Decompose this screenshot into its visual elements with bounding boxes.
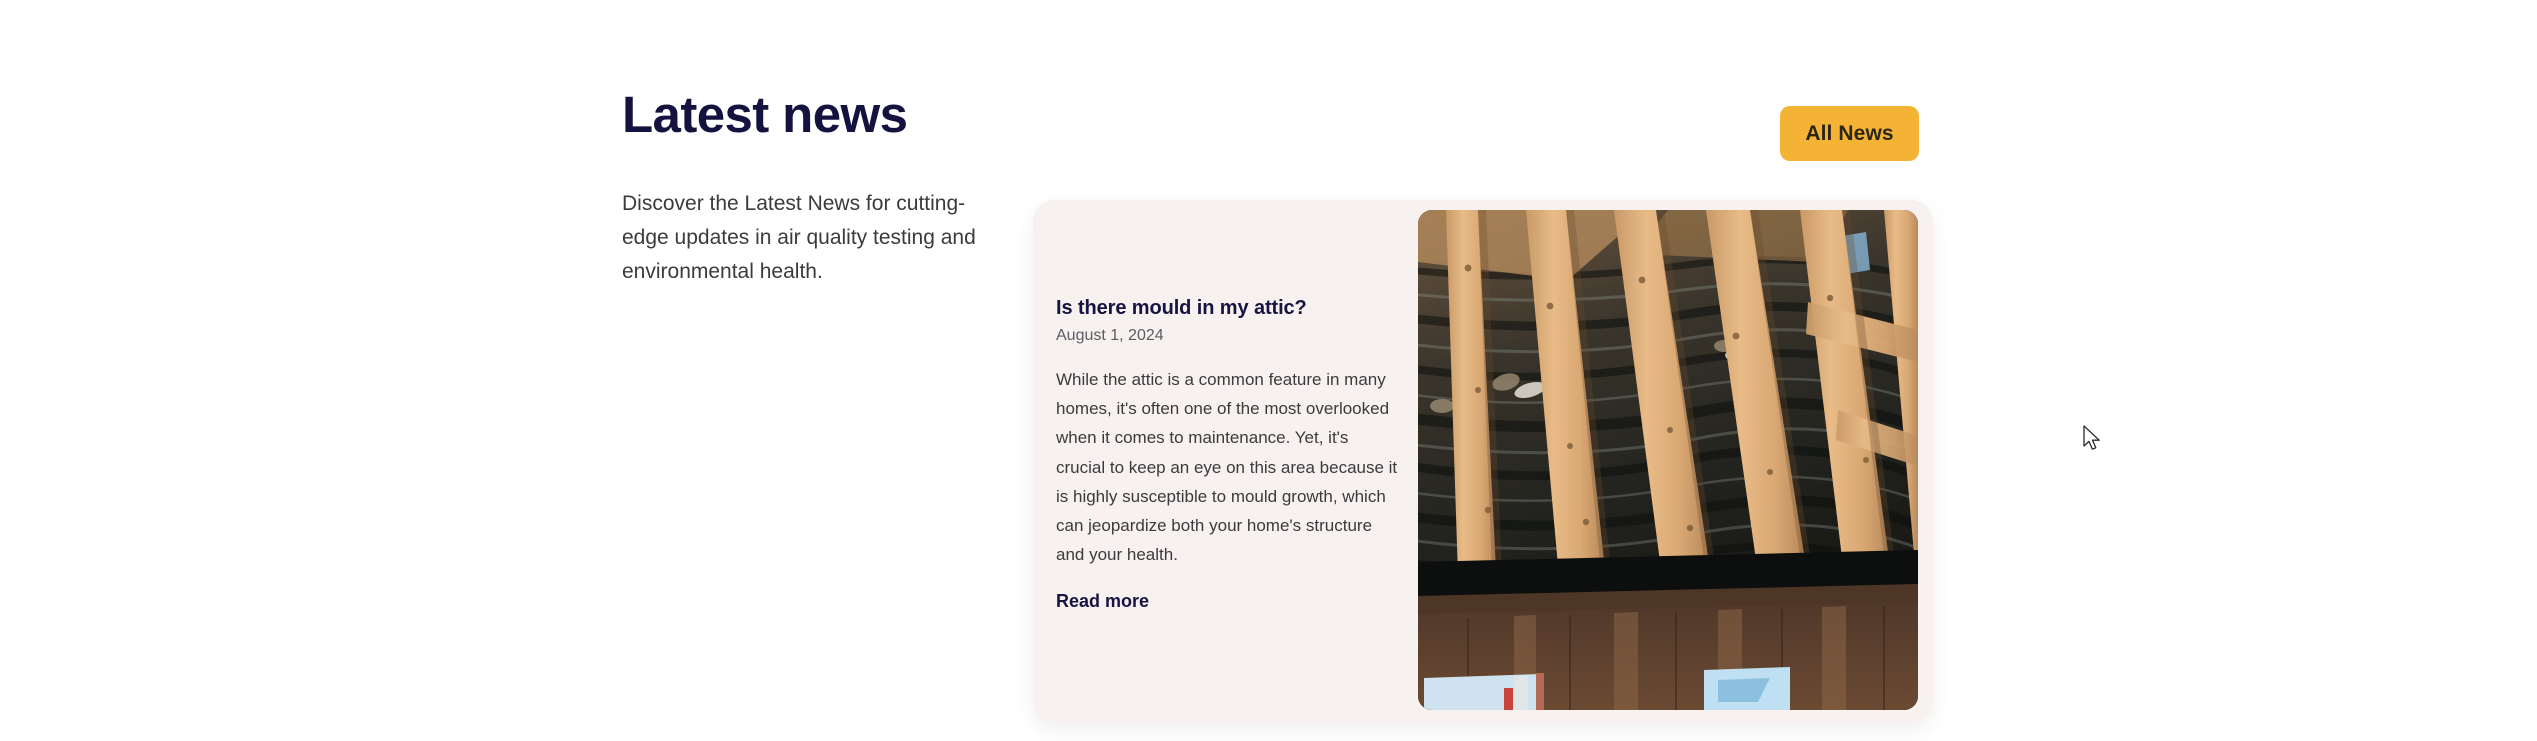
news-card-text: Is there mould in my attic? August 1, 20… <box>1056 296 1406 612</box>
news-card[interactable]: Is there mould in my attic? August 1, 20… <box>1033 200 1933 723</box>
page-title: Latest news <box>622 86 1012 143</box>
news-card-date: August 1, 2024 <box>1056 321 1406 347</box>
latest-news-intro: Latest news Discover the Latest News for… <box>622 86 1012 289</box>
mouse-cursor <box>2083 425 2105 453</box>
news-card-title: Is there mould in my attic? <box>1056 296 1406 321</box>
read-more-link[interactable]: Read more <box>1056 591 1149 612</box>
news-card-excerpt: While the attic is a common feature in m… <box>1056 347 1401 570</box>
section-description: Discover the Latest News for cutting-edg… <box>622 143 1000 289</box>
all-news-button[interactable]: All News <box>1780 106 1919 161</box>
all-news-button-label: All News <box>1805 122 1893 146</box>
news-card-photo <box>1418 210 1918 710</box>
